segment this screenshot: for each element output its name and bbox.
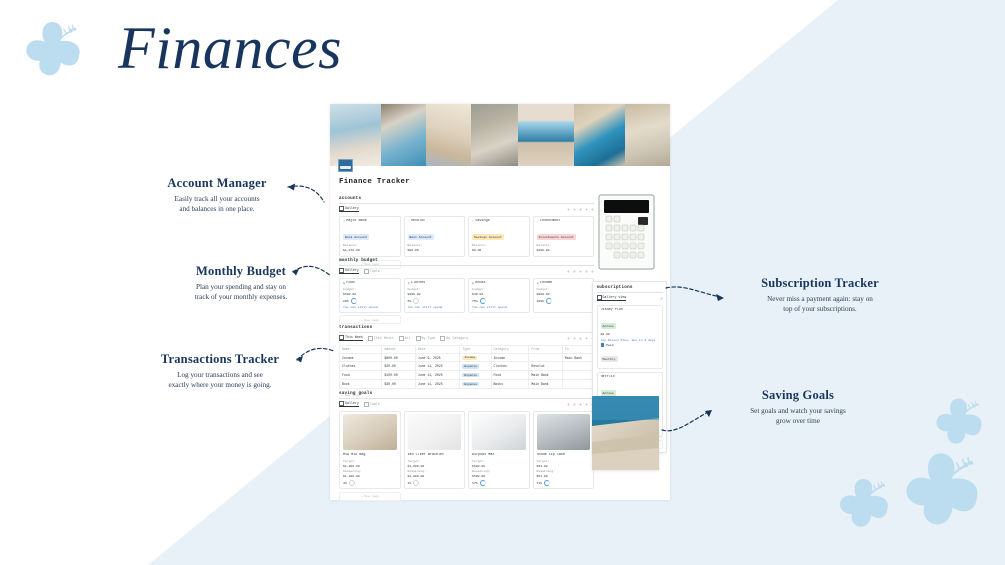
account-card[interactable]: ▢Savings Savings Account Balance: $0.00 [468,216,530,258]
budget-progress: 20% [343,298,397,304]
callout-body-line2: and balances in one place. [152,204,282,214]
arrow-account-manager [276,182,336,210]
goal-progress: 4% [343,480,397,486]
sort-icon[interactable] [573,337,576,340]
budget-value: $300.00 [408,292,462,296]
cell-name: Clothes [340,362,382,371]
callout-heading: Subscription Tracker [735,276,905,291]
cell-type: Expense [460,371,491,380]
sort-icon[interactable] [573,270,576,273]
saving-goal-card[interactable]: Rhode Lip Case Target: $64.00 Remaining:… [533,411,595,490]
accounts-cards: ▢Major Bank Bank Account Balance: $1,270… [339,216,594,258]
gallery-icon [597,295,602,300]
cell-category: Income [491,353,529,362]
column-name[interactable]: Name [340,345,382,353]
arrow-transactions-tracker [288,344,340,368]
divider [339,203,594,204]
transactions-toolbar[interactable] [567,337,594,340]
budget-card[interactable]: ▣Clothes budget: $300.00 5% You can stil… [404,278,466,313]
balance-label: Balance: [343,243,397,247]
transactions-view-by-type[interactable]: By Type [416,336,436,341]
column-from[interactable]: From [529,345,562,353]
goal-progress: 71% [537,480,591,486]
payment-reminder-link[interactable]: Pay Disney Plus, due in 3 days [601,338,659,342]
cell-date: June 11, 2025 [415,362,460,371]
target-value: $1,200.00 [343,464,397,468]
progress-ring-icon [480,298,486,304]
budget-label: budget: [343,287,397,291]
transactions-table: Name Amount Date Type Category From To I… [339,345,594,389]
saving-goals-view-bar: Gallery Table [339,401,594,408]
type-tag: Expense [462,373,479,377]
progress-ring-icon [544,480,550,486]
filter-icon[interactable] [567,403,570,406]
subscription-card[interactable]: Disney Plus Active $9.00 Pay Disney Plus… [597,305,663,369]
cell-amount: $20.00 [382,362,415,371]
budget-link[interactable]: You can still spend [343,305,397,309]
target-label: Target: [537,459,591,463]
progress-ring-icon [413,480,419,486]
cell-category: Books [491,380,529,389]
cell-name: Food [340,371,382,380]
target-label: Target: [408,459,462,463]
account-type-tag: Savings Account [472,234,504,240]
subscriptions-view-bar: Gallery view [597,295,663,302]
balance-value: $0.00 [472,248,526,252]
remaining-value: $51.00 [537,474,591,478]
progress-ring-icon [349,480,355,486]
target-label: Target: [472,459,526,463]
column-to[interactable]: To [562,345,593,353]
balance-label: Balance: [537,243,591,247]
cell-date: June 11, 2025 [415,380,460,389]
sort-icon[interactable] [573,403,576,406]
paid-checkbox-row: Paid [601,343,659,347]
budget-card[interactable]: ▣Food budget: $500.00 20% You can still … [339,278,401,313]
column-type[interactable]: Type [460,345,491,353]
subscription-amount: $9.00 [601,332,659,336]
goals-view-gallery[interactable]: Gallery [339,401,359,408]
budget-link[interactable]: You can still spend [472,305,526,309]
arrow-saving-goals [660,404,724,438]
more-icon[interactable] [591,208,594,211]
status-badge: Active [601,390,616,396]
page-title: Finances [118,18,342,78]
progress-ring-icon [546,298,552,304]
column-category[interactable]: Category [491,345,529,353]
budget-value: $800.00 [537,292,591,296]
transactions-database: transactions This Week This Month ALL By… [339,325,594,398]
remaining-label: Remaining: [343,469,397,473]
table-row[interactable]: Book $30.00 June 11, 2025 Expense Books … [340,380,594,389]
table-icon [416,336,421,341]
cell-category: Clothes [491,362,529,371]
cell-date: June 11, 2025 [415,371,460,380]
remaining-label: Remaining: [472,469,526,473]
remaining-value: $500.00 [472,474,526,478]
filter-icon[interactable] [567,270,570,273]
cell-amount: $30.00 [382,380,415,389]
accounts-view-gallery[interactable]: Gallery [339,206,359,213]
transactions-view-bar: This Week This Month ALL By Type By Cate… [339,335,594,342]
table-icon [364,269,369,274]
hibiscus-icon-bottom-right-medium [925,390,993,456]
monthly-budget-view-bar: Gallery Table [339,268,594,275]
account-type-tag: Investments Account [537,234,576,240]
goal-image [408,414,462,450]
account-card[interactable]: ▢Revolut Bank Account Balance: $80.00 [404,216,466,258]
cell-from: Main Bank [529,371,562,380]
accounts-view-bar: Gallery [339,206,594,213]
checkbox-icon[interactable] [601,343,605,347]
callout-body-line2: exactly where your money is going. [146,380,294,390]
saving-goals-cards: Miu Miu Bag Target: $1,200.00 Remaining:… [339,411,594,490]
page-emoji-icon [338,159,353,172]
table-row[interactable]: Clothes $20.00 June 11, 2025 Expense Clo… [340,362,594,371]
balance-value: $200.00 [537,248,591,252]
callout-body-line1: Easily track all your accounts [152,194,282,204]
page-icon: ▣ [408,281,410,285]
saving-goals-toolbar[interactable] [567,403,594,406]
goals-new-page-button[interactable]: + New page [339,492,401,501]
budget-view-table[interactable]: Table [364,269,380,274]
cell-amount: $100.00 [382,371,415,380]
callout-body-line2: top of your subscriptions. [735,304,905,314]
paid-label: Paid [606,343,613,347]
callout-account-manager: Account Manager Easily track all your ac… [152,176,282,215]
cell-name: Book [340,380,382,389]
cell-from: Main Bank [529,380,562,389]
target-value: $600.00 [472,464,526,468]
table-row[interactable]: Income $800.00 June 9, 2025 Income Incom… [340,353,594,362]
arrow-monthly-budget [283,262,339,286]
callout-body-line1: Never miss a payment again: stay on [735,294,905,304]
saving-goals-photo [592,396,659,470]
monthly-budget-toolbar[interactable] [567,270,594,273]
goal-image [472,414,526,450]
edit-icon[interactable] [585,270,588,273]
remaining-label: Remaining: [537,469,591,473]
divider [597,292,663,293]
search-icon[interactable] [579,270,582,273]
cell-to [562,380,593,389]
cell-to: Main Bank [562,353,593,362]
cell-name: Income [340,353,382,362]
search-icon[interactable] [579,403,582,406]
callout-subscription-tracker: Subscription Tracker Never miss a paymen… [735,276,905,315]
subscriptions-view-gallery[interactable]: Gallery view [597,295,627,302]
budget-progress: 100% [537,298,591,304]
column-date[interactable]: Date [415,345,460,353]
table-icon [440,336,445,341]
cell-from: Revolut [529,362,562,371]
callout-body-line2: grow over time [718,416,878,426]
gallery-icon [339,268,344,273]
search-icon[interactable] [579,208,582,211]
page-cover-banner [330,104,670,166]
page-icon: ▢ [343,219,345,223]
remaining-label: Remaining: [408,469,462,473]
saving-goals-database: saving goals Gallery Table Miu Miu [339,391,594,501]
target-value: $64.00 [537,464,591,468]
page-icon: ▣ [537,281,539,285]
goal-progress: 1% [408,480,462,486]
balance-label: Balance: [472,243,526,247]
target-value: $1,000.00 [408,464,462,468]
saving-goal-card[interactable]: Miu Miu Bag Target: $1,200.00 Remaining:… [339,411,401,490]
filter-icon[interactable] [567,208,570,211]
table-icon [339,335,344,340]
callout-heading: Transactions Tracker [146,352,294,367]
budget-card[interactable]: ▣Books budget: $40.00 75% You can still … [468,278,530,313]
account-card[interactable]: ▢Major Bank Bank Account Balance: $1,270… [339,216,401,258]
subscriptions-toolbar[interactable] [660,297,663,300]
callout-body-line1: Log your transactions and see [146,370,294,380]
budget-label: budget: [472,287,526,291]
budget-new-page-button[interactable]: + New page [339,315,401,324]
budget-label: budget: [408,287,462,291]
more-icon[interactable] [660,297,663,300]
more-icon[interactable] [591,270,594,273]
cell-date: June 9, 2025 [415,353,460,362]
remaining-value: $1,000.00 [408,474,462,478]
hibiscus-icon-top-left [8,12,98,90]
progress-ring-icon [351,298,357,304]
filter-icon[interactable] [567,337,570,340]
page-icon: ▣ [472,281,474,285]
status-badge: Active [601,323,616,329]
cell-type: Expense [460,362,491,371]
calculator-image [598,194,655,270]
accounts-toolbar[interactable] [567,208,594,211]
transactions-view-this-week[interactable]: This Week [339,335,363,342]
table-row[interactable]: Food $100.00 June 11, 2025 Expense Food … [340,371,594,380]
transactions-view-this-month[interactable]: This Month [368,336,394,341]
type-tag: Expense [462,364,479,368]
table-icon [364,402,369,407]
page-icon: ▢ [472,219,474,223]
budget-card[interactable]: ▣Income budget: $800.00 100% [533,278,595,313]
callout-body-line1: Set goals and watch your savings [718,406,878,416]
cell-category: Food [491,371,529,380]
type-tag: Income [462,356,477,360]
column-amount[interactable]: Amount [382,345,415,353]
monthly-budget-database: monthly budget Gallery Table ▣Food b [339,258,594,324]
budget-progress: 75% [472,298,526,304]
divider [339,398,594,399]
billing-cycle-tag: Monthly [601,356,618,362]
goal-progress: 17% [472,480,526,486]
edit-icon[interactable] [585,337,588,340]
cell-from [529,353,562,362]
callout-heading: Account Manager [152,176,282,191]
table-icon [399,336,404,341]
table-header-row: Name Amount Date Type Category From To [340,345,594,353]
remaining-value: $1,100.00 [343,474,397,478]
gallery-icon [339,401,344,406]
saving-goal-card[interactable]: Van Cleef Bracelet Target: $1,000.00 Rem… [404,411,466,490]
arrow-subscription-tracker [664,282,732,308]
budget-view-gallery[interactable]: Gallery [339,268,359,275]
budget-value: $500.00 [343,292,397,296]
callout-saving-goals: Saving Goals Set goals and watch your sa… [718,388,878,427]
cell-type: Income [460,353,491,362]
table-icon [368,336,373,341]
goals-view-table[interactable]: Table [364,402,380,407]
balance-value: $80.00 [408,248,462,252]
goal-image [537,414,591,450]
page-icon: ▢ [537,219,539,223]
transactions-view-by-category[interactable]: By Category [440,336,468,341]
callout-heading: Saving Goals [718,388,878,403]
budget-value: $40.00 [472,292,526,296]
balance-value: $1,270.00 [343,248,397,252]
cell-to [562,371,593,380]
type-tag: Expense [462,382,479,386]
budget-progress: 5% [408,298,462,304]
callout-body-line2: track of your monthly expenses. [176,292,306,302]
divider [339,332,594,333]
page-icon: ▣ [343,281,345,285]
hibiscus-icon-bottom-right-small [828,470,900,540]
budget-label: budget: [537,287,591,291]
progress-ring-icon [413,298,419,304]
saving-goal-card[interactable]: Airpods Max Target: $600.00 Remaining: $… [468,411,530,490]
cell-amount: $800.00 [382,353,415,362]
sort-icon[interactable] [573,208,576,211]
goal-image [343,414,397,450]
account-type-tag: Bank Account [408,234,434,240]
gallery-icon [339,206,344,211]
edit-icon[interactable] [585,208,588,211]
cell-type: Expense [460,380,491,389]
target-label: Target: [343,459,397,463]
divider [339,265,594,266]
account-card[interactable]: ▢Investment Investments Account Balance:… [533,216,595,258]
finance-tracker-title: Finance Tracker [339,178,410,186]
edit-icon[interactable] [585,403,588,406]
progress-ring-icon [480,480,486,486]
search-icon[interactable] [579,337,582,340]
page-icon: ▢ [408,219,410,223]
budget-link[interactable]: You can still spend [408,305,462,309]
balance-label: Balance: [408,243,462,247]
monthly-budget-cards: ▣Food budget: $500.00 20% You can still … [339,278,594,313]
transactions-view-all[interactable]: ALL [399,336,411,341]
account-type-tag: Bank Account [343,234,369,240]
callout-transactions-tracker: Transactions Tracker Log your transactio… [146,352,294,391]
cell-to [562,362,593,371]
